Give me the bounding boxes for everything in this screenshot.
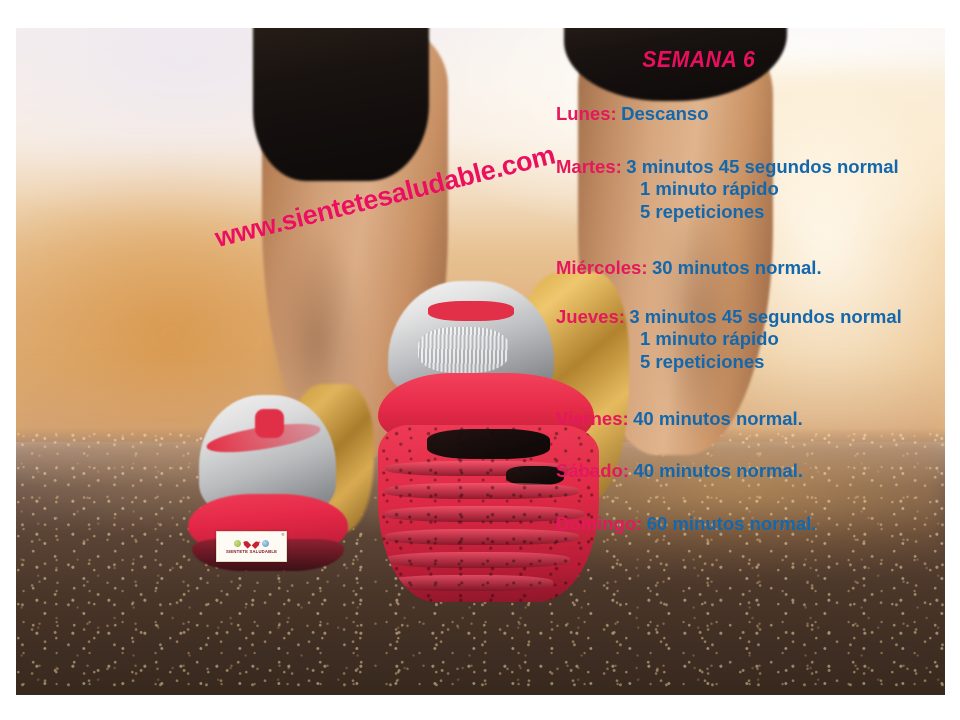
day-label-viernes: Viernes: (556, 408, 629, 429)
schedule-row-miercoles: Miércoles: 30 minutos normal. (556, 257, 952, 280)
registered-mark-icon: ® (281, 532, 284, 537)
day-value-jueves: 3 minutos 45 segundos normal (629, 306, 901, 327)
photo-shoe-back-heel-tab (255, 409, 285, 438)
schedule-row-sabado: Sábado: 40 minutos normal. (556, 460, 952, 483)
slide-canvas: ® + + SIENTETE SALUDABLE www.sientetesal… (0, 0, 960, 720)
water-drop-icon (262, 540, 269, 547)
logo-text: SIENTETE SALUDABLE (226, 549, 277, 554)
day-value-lunes: Descanso (621, 103, 708, 124)
schedule-row-viernes: Viernes: 40 minutos normal. (556, 408, 952, 431)
day-extra-jueves-2: 5 repeticiones (556, 351, 952, 374)
day-value-sabado: 40 minutos normal. (633, 460, 803, 481)
day-value-martes: 3 minutos 45 segundos normal (626, 156, 898, 177)
page-title: SEMANA 6 (572, 46, 936, 73)
day-extra-jueves-1: 1 minuto rápido (556, 328, 952, 351)
photo-shoe-front-mesh-vent (418, 327, 508, 373)
day-label-lunes: Lunes: (556, 103, 617, 124)
day-label-sabado: Sábado: (556, 460, 629, 481)
day-value-viernes: 40 minutos normal. (633, 408, 803, 429)
schedule-row-martes: Martes: 3 minutos 45 segundos normal 1 m… (556, 156, 952, 224)
day-label-domingo: Domingo: (556, 513, 642, 534)
schedule-row-lunes: Lunes: Descanso (556, 103, 952, 126)
heart-icon (247, 540, 256, 548)
photo-shoe-front-lace-accent (428, 301, 513, 321)
photo-shorts-left (253, 28, 430, 181)
schedule-row-jueves: Jueves: 3 minutos 45 segundos normal 1 m… (556, 306, 952, 374)
day-value-domingo: 60 minutos normal. (647, 513, 817, 534)
schedule-row-domingo: Domingo: 60 minutos normal. (556, 513, 952, 536)
day-label-miercoles: Miércoles: (556, 257, 648, 278)
day-extra-martes-2: 5 repeticiones (556, 201, 952, 224)
day-label-jueves: Jueves: (556, 306, 625, 327)
workout-text-panel: SEMANA 6 Lunes: Descanso Martes: 3 minut… (556, 46, 952, 553)
day-label-martes: Martes: (556, 156, 622, 177)
logo-icon-row: + + (234, 540, 269, 548)
day-value-miercoles: 30 minutos normal. (652, 257, 822, 278)
brand-logo-sticker: ® + + SIENTETE SALUDABLE (216, 531, 288, 562)
day-extra-martes-1: 1 minuto rápido (556, 178, 952, 201)
apple-icon (234, 540, 241, 547)
